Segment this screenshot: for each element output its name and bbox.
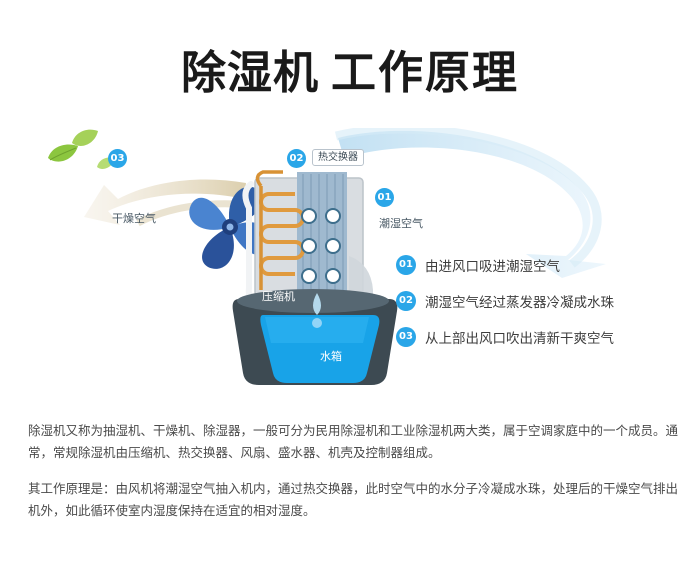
- body-text: 除湿机又称为抽湿机、干燥机、除湿器，一般可分为民用除湿机和工业除湿机两大类，属于…: [28, 420, 678, 536]
- legend-list: 01 由进风口吸进潮湿空气 02 潮湿空气经过蒸发器冷凝成水珠 03 从上部出风…: [396, 255, 696, 363]
- page-root: 除湿机工作原理: [0, 0, 700, 566]
- title-sub: 工作原理: [331, 46, 519, 99]
- diagram-badge-01: 01: [375, 188, 394, 207]
- diagram-badge-02: 02: [287, 149, 306, 168]
- water-tank: [225, 285, 400, 395]
- leaf-icon: [70, 128, 100, 152]
- title-main: 除湿机: [181, 46, 319, 99]
- legend-item: 01 由进风口吸进潮湿空气: [396, 255, 696, 275]
- legend-item: 03 从上部出风口吹出清新干爽空气: [396, 327, 696, 347]
- label-water-tank: 水箱: [320, 348, 342, 364]
- legend-label: 潮湿空气经过蒸发器冷凝成水珠: [425, 291, 614, 311]
- legend-number: 01: [396, 255, 416, 275]
- label-humid-air: 潮湿空气: [379, 215, 423, 231]
- label-heat-exchanger: 热交换器: [312, 149, 364, 166]
- label-compressor: 压缩机: [262, 288, 295, 304]
- diagram-badge-03: 03: [108, 149, 127, 168]
- legend-item: 02 潮湿空气经过蒸发器冷凝成水珠: [396, 291, 696, 311]
- body-paragraph-1: 除湿机又称为抽湿机、干燥机、除湿器，一般可分为民用除湿机和工业除湿机两大类，属于…: [28, 420, 678, 464]
- body-paragraph-2: 其工作原理是：由风机将潮湿空气抽入机内，通过热交换器，此时空气中的水分子冷凝成水…: [28, 478, 678, 522]
- legend-number: 02: [396, 291, 416, 311]
- page-title: 除湿机工作原理: [0, 36, 700, 101]
- legend-label: 从上部出风口吹出清新干爽空气: [425, 327, 614, 347]
- label-dry-air: 干燥空气: [112, 210, 156, 226]
- legend-label: 由进风口吸进潮湿空气: [425, 255, 560, 275]
- legend-number: 03: [396, 327, 416, 347]
